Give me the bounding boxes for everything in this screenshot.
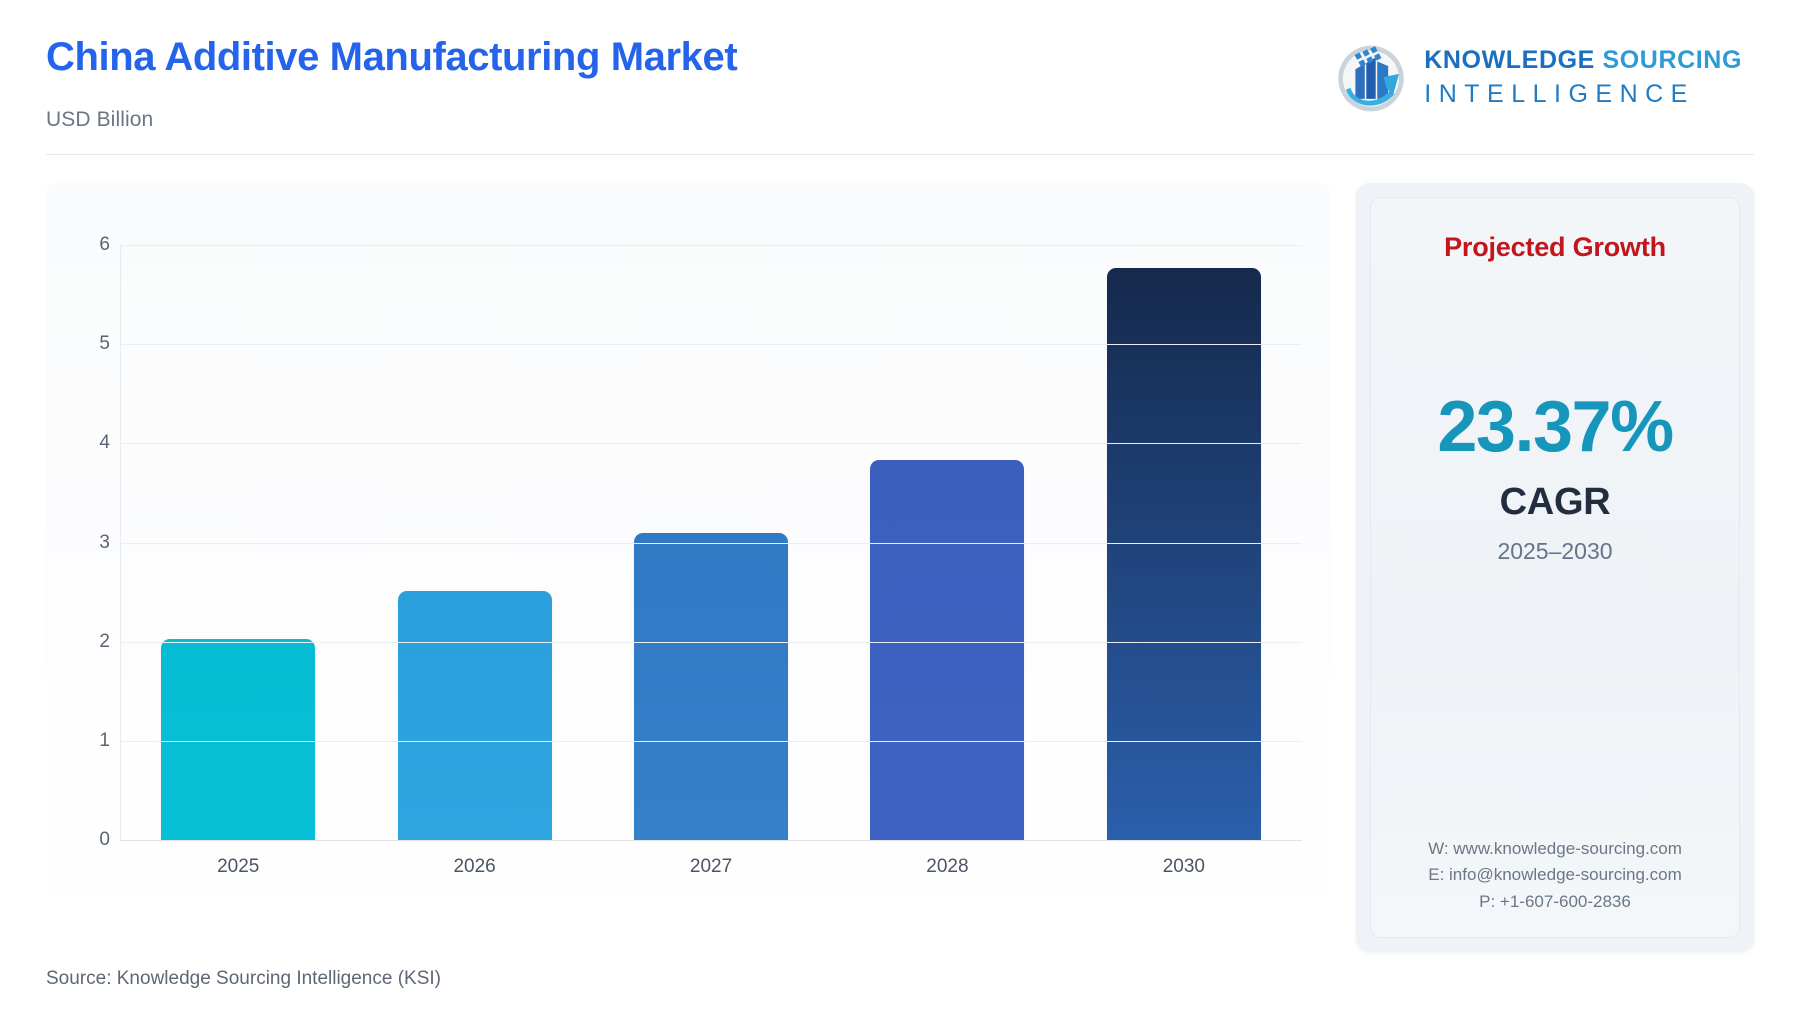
- contact-block: W: www.knowledge-sourcing.com E: info@kn…: [1428, 836, 1682, 915]
- chart-page: China Additive Manufacturing Market USD …: [0, 0, 1800, 1012]
- y-axis-tick-label: 6: [74, 234, 110, 256]
- brand-logo-line1: KNOWLEDGE SOURCING: [1424, 48, 1742, 73]
- gridline: [120, 840, 1302, 841]
- y-axis-tick-label: 1: [74, 730, 110, 752]
- projected-growth-title: Projected Growth: [1444, 232, 1666, 263]
- knowledge-sourcing-emblem-icon: [1332, 38, 1410, 116]
- x-axis-tick-label: 2030: [1066, 856, 1302, 884]
- source-note: Source: Knowledge Sourcing Intelligence …: [46, 968, 441, 989]
- contact-email[interactable]: E: info@knowledge-sourcing.com: [1428, 862, 1682, 888]
- cagr-value: 23.37%: [1437, 391, 1672, 463]
- cagr-label: CAGR: [1500, 481, 1611, 524]
- x-axis-tick-label: 2026: [356, 856, 592, 884]
- gridline: [120, 443, 1302, 444]
- gridline: [120, 642, 1302, 643]
- contact-phone[interactable]: P: +1-607-600-2836: [1428, 889, 1682, 915]
- plot-grid-area: [120, 245, 1302, 840]
- x-axis-tick-label: 2025: [120, 856, 356, 884]
- x-axis-tick-label: 2028: [829, 856, 1065, 884]
- cagr-period: 2025–2030: [1497, 538, 1612, 565]
- gridline: [120, 741, 1302, 742]
- projected-growth-card: Projected Growth 23.37% CAGR 2025–2030 W…: [1356, 183, 1754, 952]
- content-area: 0123456 20252026202720282030 Projected G…: [46, 155, 1754, 952]
- chart-units-subtitle: USD Billion: [46, 108, 737, 132]
- y-axis-tick-label: 0: [74, 829, 110, 851]
- y-axis-tick-label: 4: [74, 432, 110, 454]
- bar-2028[interactable]: [870, 460, 1024, 840]
- projected-growth-card-inner: Projected Growth 23.37% CAGR 2025–2030 W…: [1370, 197, 1740, 938]
- footer: Source: Knowledge Sourcing Intelligence …: [46, 952, 1754, 1012]
- gridline: [120, 245, 1302, 246]
- bar-2025[interactable]: [161, 639, 315, 840]
- x-axis: 20252026202720282030: [120, 856, 1302, 884]
- page-title: China Additive Manufacturing Market: [46, 34, 737, 80]
- bar-chart: 0123456 20252026202720282030: [46, 183, 1330, 952]
- y-axis-tick-label: 2: [74, 631, 110, 653]
- bar-2027[interactable]: [634, 533, 788, 840]
- brand-logo-line2: INTELLIGENCE: [1424, 82, 1742, 107]
- y-axis: 0123456: [74, 245, 110, 840]
- y-axis-tick-label: 3: [74, 532, 110, 554]
- header-text-block: China Additive Manufacturing Market USD …: [46, 34, 737, 132]
- contact-website[interactable]: W: www.knowledge-sourcing.com: [1428, 836, 1682, 862]
- bar-2030[interactable]: [1107, 268, 1261, 840]
- y-axis-tick-label: 5: [74, 333, 110, 355]
- bar-2026[interactable]: [398, 591, 552, 840]
- brand-logo: KNOWLEDGE SOURCING INTELLIGENCE: [1332, 38, 1742, 116]
- gridline: [120, 344, 1302, 345]
- x-axis-tick-label: 2027: [593, 856, 829, 884]
- gridline: [120, 543, 1302, 544]
- header: China Additive Manufacturing Market USD …: [46, 0, 1754, 144]
- brand-logo-text: KNOWLEDGE SOURCING INTELLIGENCE: [1424, 48, 1742, 107]
